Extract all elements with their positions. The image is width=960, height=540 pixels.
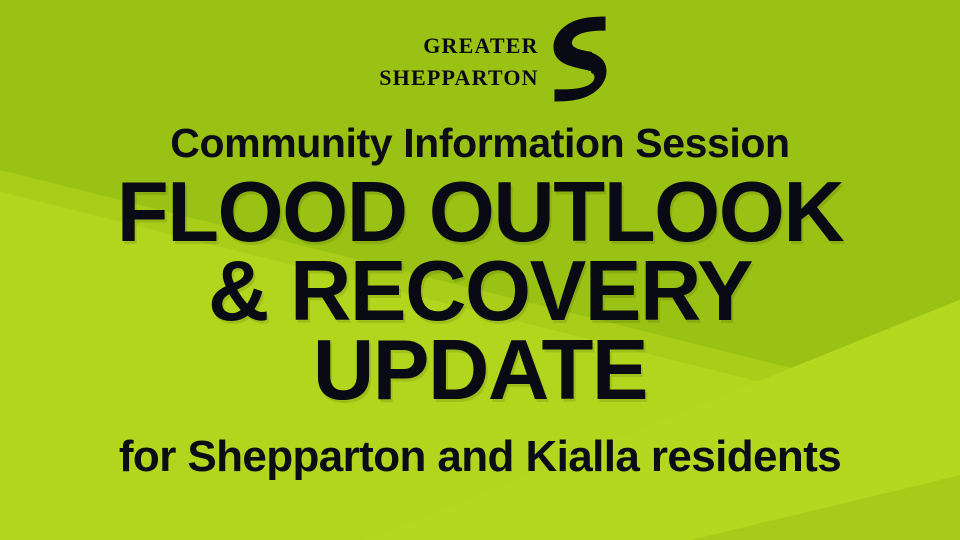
poster-canvas: Greater Shepparton Community Information… [0, 0, 960, 540]
poster-content: Greater Shepparton Community Information… [0, 0, 960, 540]
eyebrow-text: Community Information Session [170, 120, 789, 167]
logo-wordmark: Greater Shepparton [379, 27, 539, 91]
greater-shepparton-swoosh-mark [553, 16, 607, 102]
headline: FLOOD OUTLOOK & RECOVERY UPDATE [117, 173, 844, 410]
headline-line-1: FLOOD OUTLOOK [117, 173, 844, 252]
logo-wordmark-line-2: Shepparton [379, 59, 539, 91]
greater-shepparton-logo: Greater Shepparton [379, 16, 607, 102]
audience-line: for Shepparton and Kialla residents [119, 432, 841, 482]
headline-line-2: & RECOVERY [117, 252, 844, 331]
headline-line-3: UPDATE [117, 331, 844, 410]
logo-wordmark-line-1: Greater [423, 27, 539, 59]
